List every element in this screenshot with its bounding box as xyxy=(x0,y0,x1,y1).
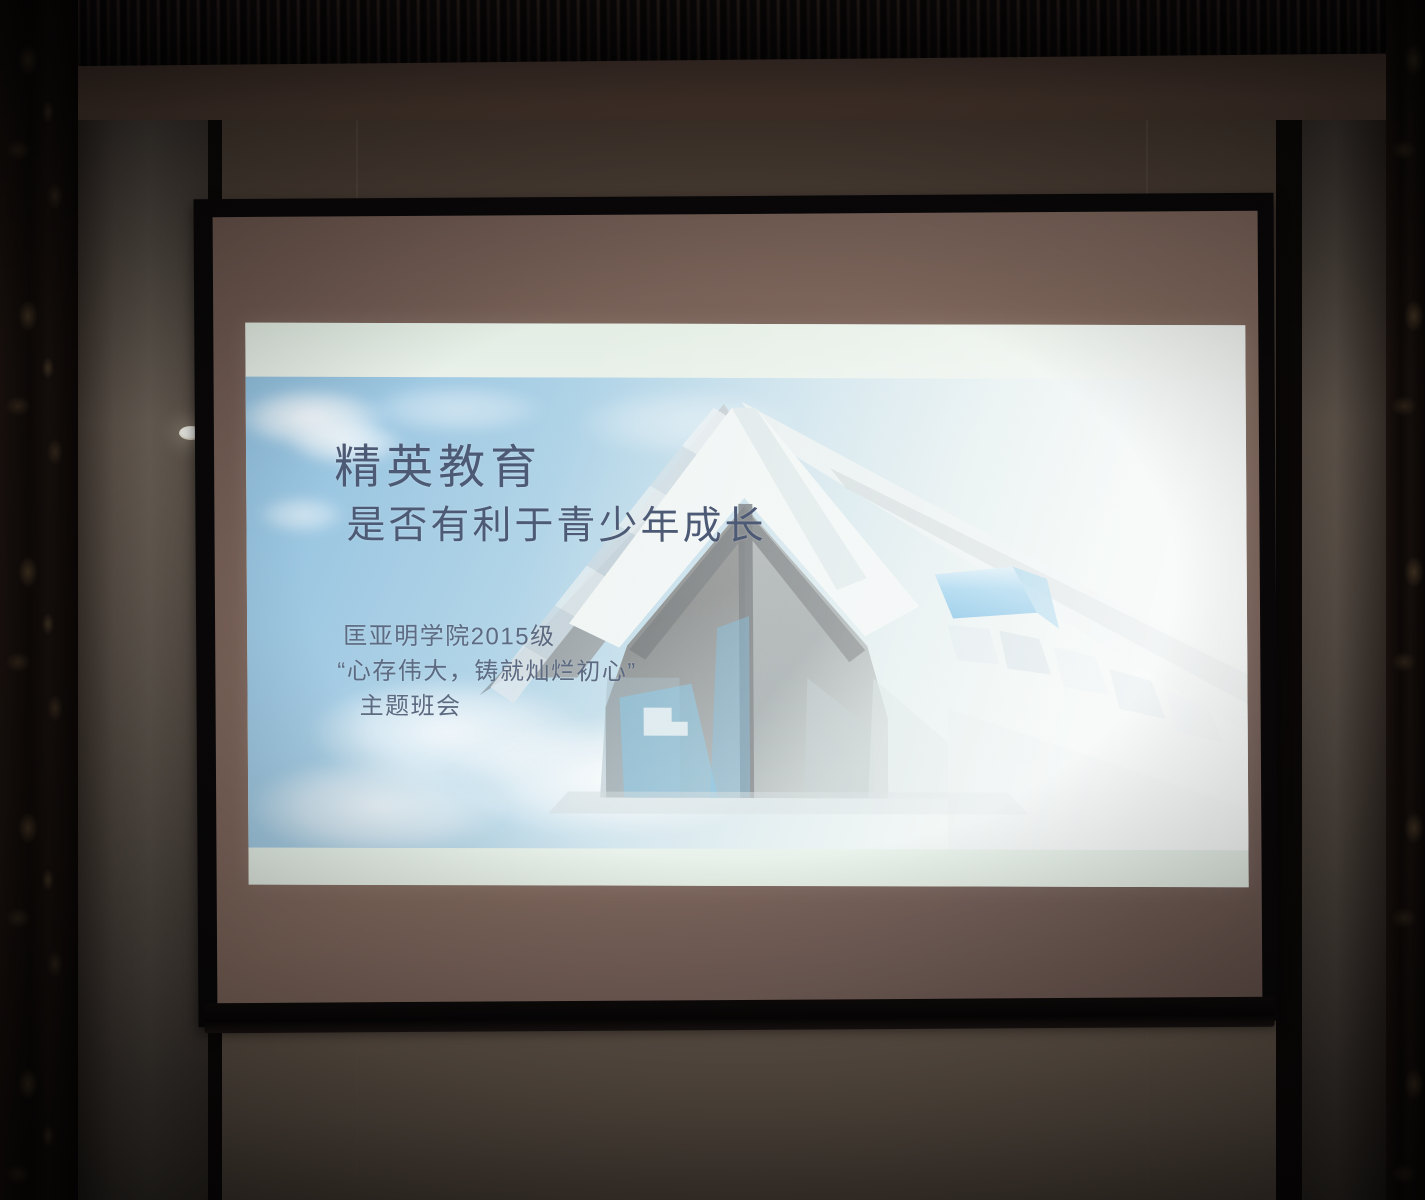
slide-photo-highlight-wash xyxy=(245,323,1248,888)
slide-title-main: 精英教育 xyxy=(334,439,766,496)
slide-bottom-band xyxy=(248,848,1248,888)
wall-recess-right xyxy=(1276,120,1302,1200)
wall-pilaster-right xyxy=(1300,120,1390,1200)
projector-screen: 精英教育 是否有利于青少年成长 匡亚明学院2015级 “心存伟大，铸就灿烂初心”… xyxy=(193,193,1278,1028)
room-scene: 精英教育 是否有利于青少年成长 匡亚明学院2015级 “心存伟大，铸就灿烂初心”… xyxy=(0,0,1425,1200)
wall-lower-section xyxy=(60,1018,1390,1200)
damask-curtain-left xyxy=(0,0,78,1200)
slide-subtitle-line-1: 匡亚明学院2015级 xyxy=(343,619,637,655)
slide-subtitle-group: 匡亚明学院2015级 “心存伟大，铸就灿烂初心” 主题班会 xyxy=(343,619,637,725)
wall-pilaster-left xyxy=(72,120,212,1200)
projected-slide: 精英教育 是否有利于青少年成长 匡亚明学院2015级 “心存伟大，铸就灿烂初心”… xyxy=(245,323,1248,888)
slide-title-group: 精英教育 是否有利于青少年成长 xyxy=(334,439,767,552)
damask-curtain-right xyxy=(1386,0,1425,1200)
slide-subtitle-line-2: “心存伟大，铸就灿烂初心” xyxy=(337,654,637,690)
slide-subtitle-line-3: 主题班会 xyxy=(359,689,637,725)
slide-title-sub: 是否有利于青少年成长 xyxy=(346,502,766,552)
